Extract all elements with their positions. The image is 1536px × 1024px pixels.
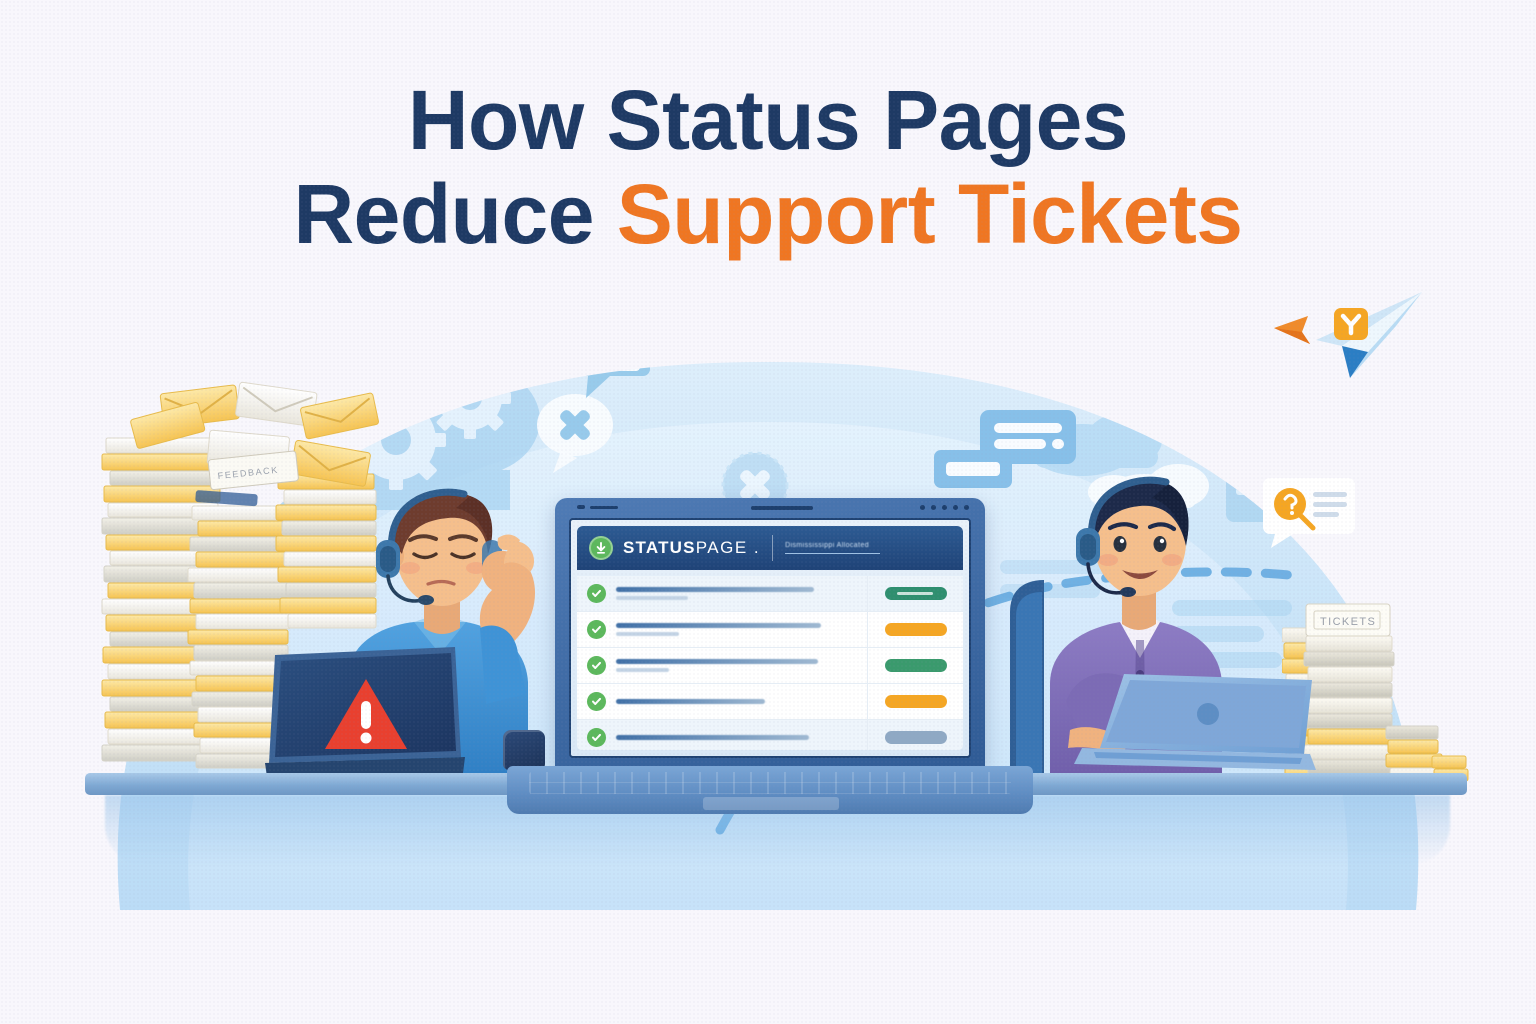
status-cell[interactable] [868,720,963,750]
illustration-canvas: FEEDBACK [0,0,1536,1024]
row-text-placeholder [616,735,857,740]
laptop-lid: STATUSPAGE . Dismississippi Allocated [555,498,985,770]
status-row-list [577,576,867,750]
header-divider [772,535,773,561]
table-row[interactable] [577,612,867,648]
status-page-header: STATUSPAGE . Dismississippi Allocated [577,526,963,570]
check-circle-icon [587,656,606,675]
row-text-placeholder [616,699,857,704]
status-pill-column [867,576,963,750]
status-page-laptop: STATUSPAGE . Dismississippi Allocated [555,498,985,818]
headline: How Status Pages Reduce Support Tickets [0,78,1536,257]
check-circle-icon [587,620,606,639]
paper-plane-icon [1272,286,1432,386]
check-circle-icon [587,728,606,747]
status-page-meta-rule [785,553,880,555]
headline-line-2: Reduce Support Tickets [0,172,1536,258]
tickets-label: TICKETS [1320,616,1376,628]
laptop-screen: STATUSPAGE . Dismississippi Allocated [569,518,971,758]
left-agent-laptop [265,645,465,780]
table-row[interactable] [577,576,867,612]
status-page-title: STATUSPAGE . [623,538,760,558]
status-badge [885,695,947,708]
check-circle-icon [587,692,606,711]
status-page-body [577,576,963,750]
laptop-base [507,766,1033,814]
status-page-title-light: PAGE . [696,538,760,557]
laptop-keyboard[interactable] [529,772,1011,794]
check-circle-icon [587,584,606,603]
faq-help-card [1263,478,1363,550]
right-agent-laptop [1072,672,1322,780]
bezel-dots [920,505,969,510]
bezel-indicators [577,505,618,509]
status-cell[interactable] [868,612,963,648]
status-badge [885,659,947,672]
table-row[interactable] [577,648,867,684]
headline-line-2-prefix: Reduce [293,167,616,261]
arrow-head-icon [1274,316,1310,344]
status-cell[interactable] [868,648,963,684]
tickets-label-card: TICKETS [1306,604,1390,636]
headline-line-2-accent: Support Tickets [617,167,1243,261]
headline-line-1: How Status Pages [0,78,1536,164]
laptop-trackpad[interactable] [703,797,839,810]
row-text-placeholder [616,587,857,600]
status-page-meta-text: Dismississippi Allocated [785,542,880,549]
computer-mouse [503,730,545,770]
download-circle-icon [589,536,613,560]
status-cell[interactable] [868,576,963,612]
status-page-meta: Dismississippi Allocated [785,542,880,555]
row-text-placeholder [616,659,857,672]
status-badge [885,623,947,636]
camera-notch [751,506,813,510]
row-text-placeholder [616,623,857,636]
status-cell[interactable] [868,684,963,720]
table-row[interactable] [577,684,867,720]
flag-badge-icon [1334,308,1368,340]
status-badge [885,731,947,744]
table-row[interactable] [577,720,867,750]
status-page-title-bold: STATUS [623,538,696,557]
status-badge [885,587,947,600]
